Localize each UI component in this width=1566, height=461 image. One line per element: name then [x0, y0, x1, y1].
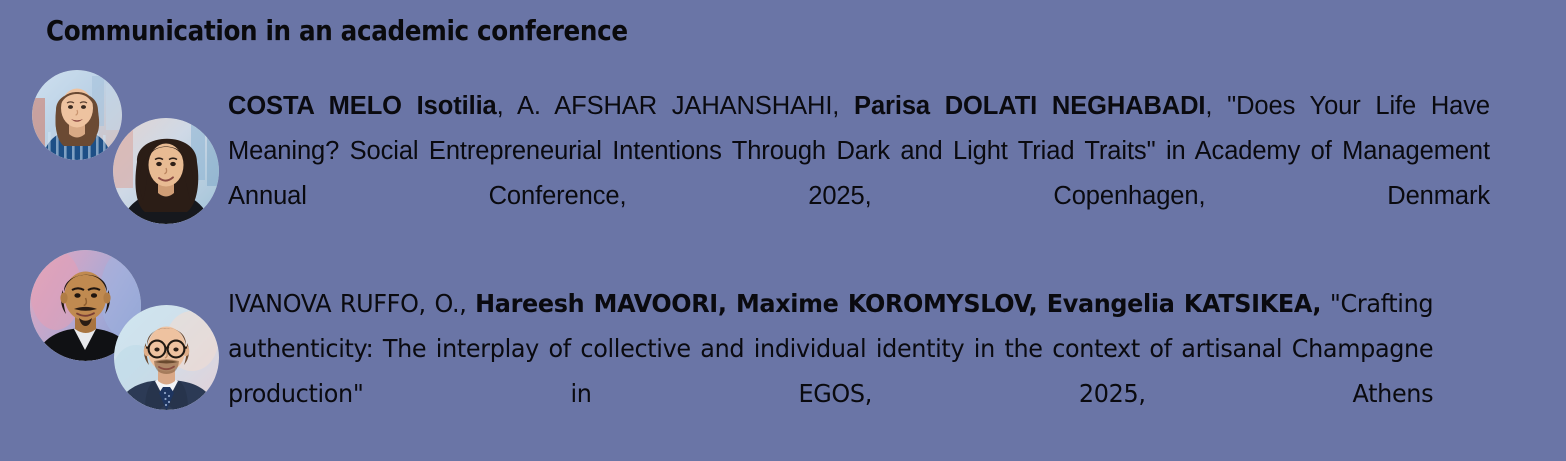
author-name-bold: Parisa DOLATI NEGHABADI: [854, 92, 1205, 120]
page-title: Communication in an academic conference: [46, 14, 628, 47]
author-name-bold: Hareesh MAVOORI, Maxime KOROMYSLOV, Evan…: [475, 289, 1321, 318]
avatar-photo: [114, 305, 219, 410]
avatar-parisa-dolati-neghabadi: [113, 118, 219, 224]
author-list: , A. AFSHAR JAHANSHAHI,: [497, 92, 854, 120]
avatar-maxime-koromyslov: [114, 305, 219, 410]
avatar-photo: [32, 70, 122, 160]
author-name-bold: COSTA MELO Isotilia: [228, 92, 497, 120]
avatar-costa-melo-isotilia: [32, 70, 122, 160]
portrait-illustration: [114, 305, 219, 410]
author-list: IVANOVA RUFFO, O.,: [228, 289, 475, 318]
avatar-group: [0, 248, 228, 423]
avatar-group: [0, 68, 228, 243]
publications-section: Communication in an academic conference: [0, 0, 1566, 450]
portrait-illustration: [32, 70, 122, 160]
citation-text: COSTA MELO Isotilia, A. AFSHAR JAHANSHAH…: [228, 84, 1490, 264]
portrait-illustration: [113, 118, 219, 224]
citation-text: IVANOVA RUFFO, O., Hareesh MAVOORI, Maxi…: [228, 281, 1433, 461]
avatar-photo: [113, 118, 219, 224]
